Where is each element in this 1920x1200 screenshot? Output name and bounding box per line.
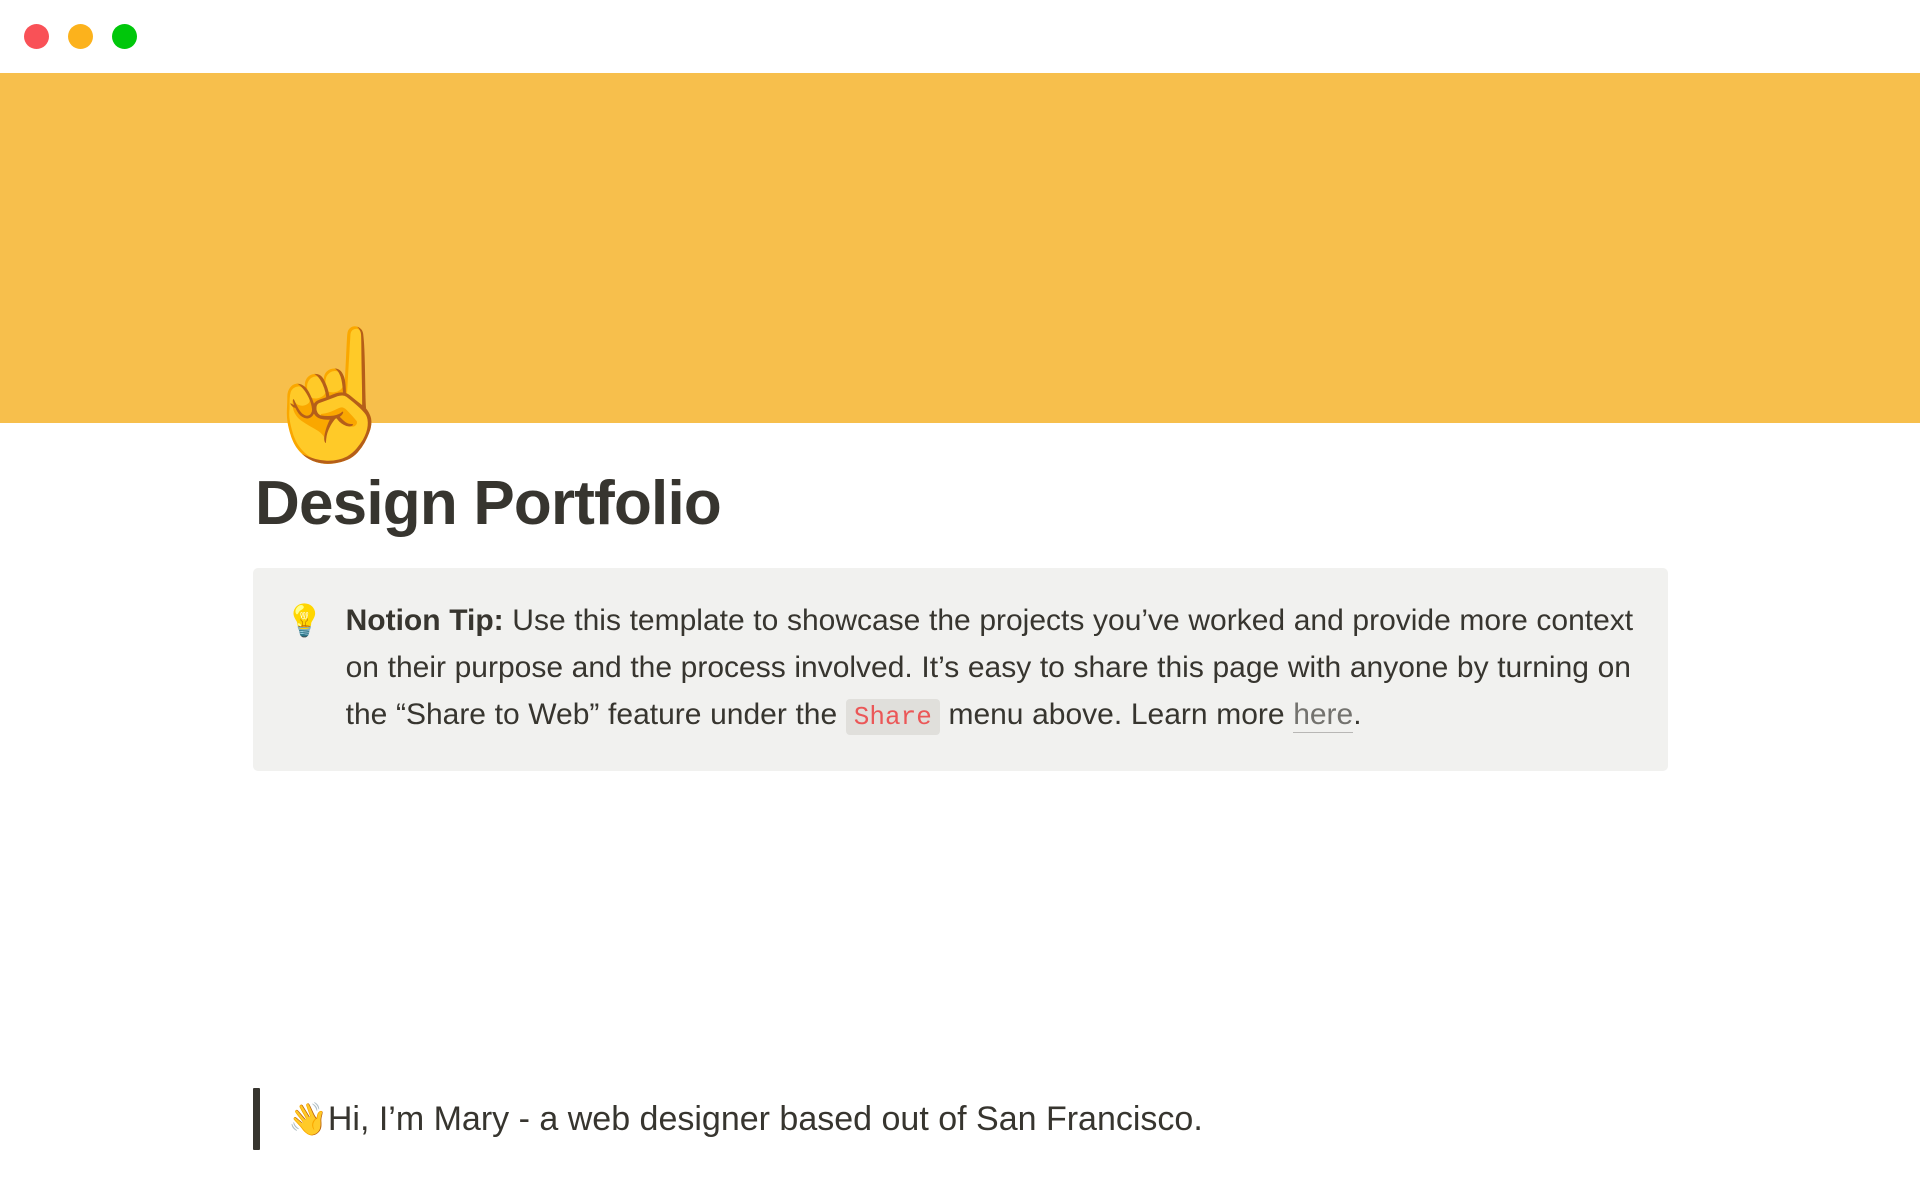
quote-block[interactable]: 👋Hi, I’m Mary - a web designer based out…: [253, 1088, 1203, 1150]
minimize-window-button[interactable]: [68, 24, 93, 49]
here-link[interactable]: here: [1293, 698, 1353, 733]
callout-body-part-2: menu above. Learn more: [940, 698, 1293, 731]
page-icon-emoji[interactable]: ☝️: [253, 332, 410, 458]
callout-text: Notion Tip: Use this template to showcas…: [346, 597, 1636, 741]
callout-body-part-3: .: [1353, 698, 1361, 731]
lightbulb-icon: 💡: [285, 597, 324, 644]
waving-hand-icon: 👋: [288, 1101, 328, 1137]
callout-block[interactable]: 💡 Notion Tip: Use this template to showc…: [253, 568, 1668, 771]
quote-bar: [253, 1088, 260, 1150]
maximize-window-button[interactable]: [112, 24, 137, 49]
quote-text: 👋Hi, I’m Mary - a web designer based out…: [260, 1088, 1203, 1150]
page-title[interactable]: Design Portfolio: [255, 468, 721, 539]
traffic-lights: [24, 24, 137, 49]
callout-bold-label: Notion Tip:: [346, 604, 504, 637]
share-inline-code: Share: [846, 699, 940, 735]
page-content: ☝️ Design Portfolio 💡 Notion Tip: Use th…: [0, 73, 1920, 1200]
close-window-button[interactable]: [24, 24, 49, 49]
app-window: ☝️ Design Portfolio 💡 Notion Tip: Use th…: [0, 0, 1920, 1200]
window-titlebar: [0, 0, 1920, 73]
quote-sentence: Hi, I’m Mary - a web designer based out …: [328, 1100, 1203, 1138]
